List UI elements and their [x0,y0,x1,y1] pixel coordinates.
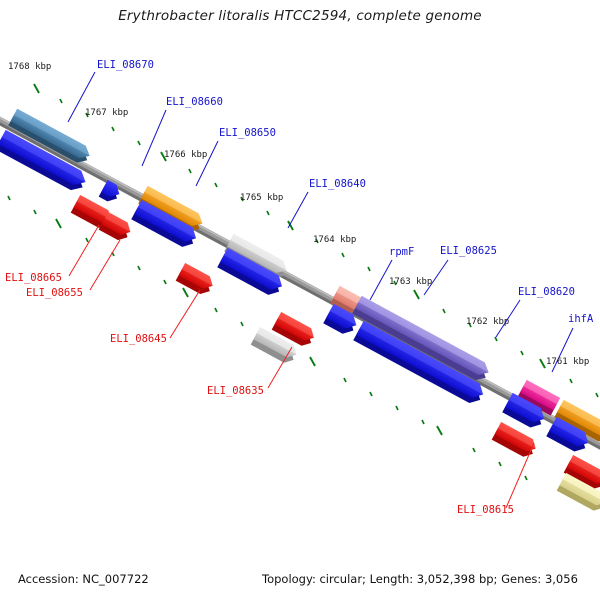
gene-ELI_08645[interactable] [176,263,216,297]
gene-label-ELI_08650[interactable]: ELI_08650 [219,127,276,139]
accession-text: Accession: NC_007722 [18,572,149,586]
gene-label-ELI_08655[interactable]: ELI_08655 [26,287,83,299]
gene-label-ihfA[interactable]: ihfA [568,313,594,325]
gene-label-rpmF[interactable]: rpmF [389,246,414,258]
ruler-label: 1765 kbp [240,193,283,203]
genome-map-viewport: Erythrobacter litoralis HTCC2594, comple… [0,0,600,600]
ruler-label: 1763 kbp [389,277,432,287]
ruler-label: 1764 kbp [313,235,356,245]
genome-map-canvas[interactable]: 1768 kbp 1767 kbp 1766 kbp 1765 kbp 1764… [0,0,600,600]
gene-label-ELI_08670[interactable]: ELI_08670 [97,59,154,71]
gene-labels[interactable]: ELI_08670 ELI_08660 ELI_08650 ELI_08640 … [5,59,594,516]
gene-label-ELI_08660[interactable]: ELI_08660 [166,96,223,108]
ruler-label: 1761 kbp [546,357,589,367]
gene-label-ELI_08635[interactable]: ELI_08635 [207,385,264,397]
gene-label-ELI_08665[interactable]: ELI_08665 [5,272,62,284]
gene-label-ELI_08615[interactable]: ELI_08615 [457,504,514,516]
ruler-label: 1767 kbp [85,108,128,118]
gene-ELI_08615[interactable] [492,422,539,460]
ruler-label: 1768 kbp [8,62,51,72]
ruler-label: 1762 kbp [466,317,509,327]
genome-summary-text: Topology: circular; Length: 3,052,398 bp… [262,572,578,586]
gene-label-ELI_08645[interactable]: ELI_08645 [110,333,167,345]
gene-label-ELI_08620[interactable]: ELI_08620 [518,286,575,298]
gene-label-ELI_08625[interactable]: ELI_08625 [440,245,497,257]
ruler-label: 1766 kbp [164,150,207,160]
gene-label-ELI_08640[interactable]: ELI_08640 [309,178,366,190]
